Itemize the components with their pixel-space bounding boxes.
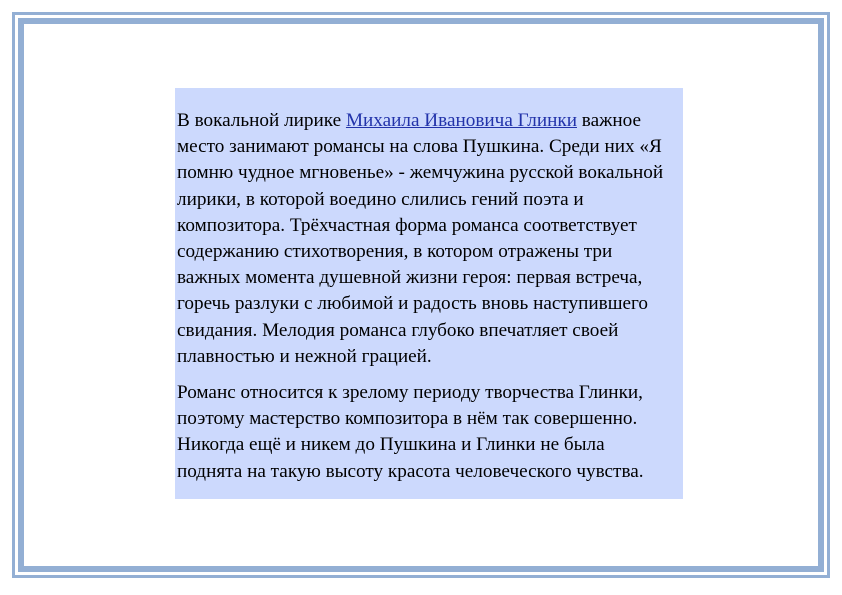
paragraph-second: Романс относится к зрелому периоду творч… [177,380,673,485]
content-text-block: В вокальной лирике Михаила Ивановича Гли… [175,88,683,499]
paragraph-first-lead: В вокальной лирике [177,110,346,131]
paragraph-first: В вокальной лирике Михаила Ивановича Гли… [177,108,673,370]
glinka-link[interactable]: Михаила Ивановича Глинки [346,110,577,131]
slide-canvas: В вокальной лирике Михаила Ивановича Гли… [0,0,842,595]
paragraph-first-rest: важное место занимают романсы на слова П… [177,110,663,367]
